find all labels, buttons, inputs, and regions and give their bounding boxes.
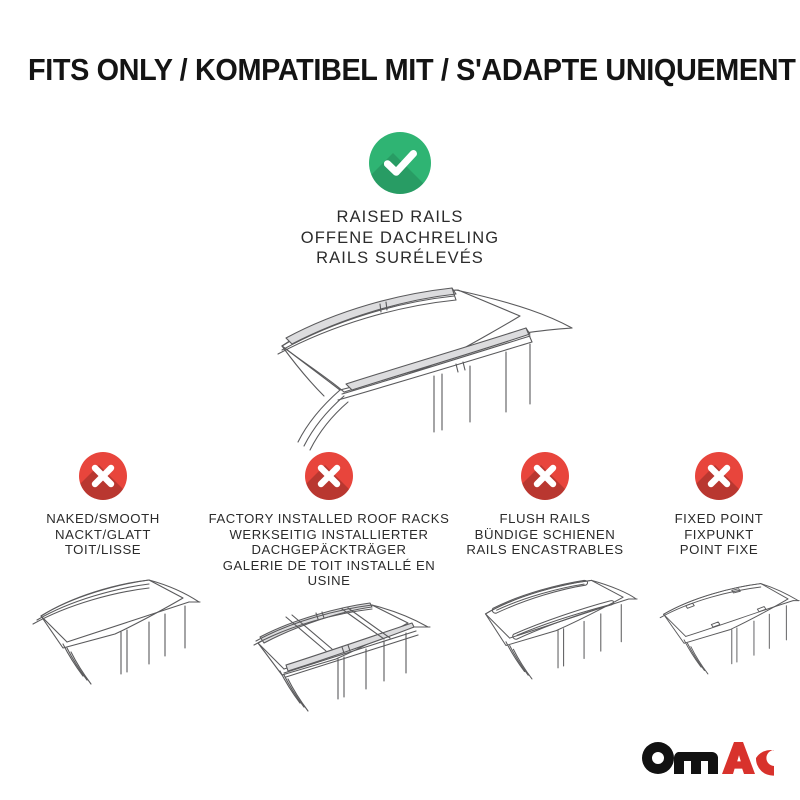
incompatible-item-fixed-point: FIXED POINT FIXPUNKT POINT FIXE [638, 452, 800, 724]
logo-letter-m [674, 752, 718, 774]
caption-line-de: BÜNDIGE SCHIENEN [452, 527, 638, 543]
logo-letter-o [642, 742, 674, 774]
caption-line-de-2: DACHGEPÄCKTRÄGER [206, 542, 452, 558]
car-roof-fixed-point-illustration [638, 564, 800, 724]
car-roof-factory-roof-racks-illustration [206, 595, 452, 755]
x-circle-icon [695, 452, 743, 500]
caption-line-en: NAKED/SMOOTH [0, 511, 206, 527]
x-circle-icon [79, 452, 127, 500]
caption-line-fr: TOIT/LISSE [0, 542, 206, 558]
caption-line-fr: GALERIE DE TOIT INSTALLÉ EN USINE [206, 558, 452, 589]
car-roof-flush-rails-illustration [452, 564, 638, 724]
caption-line-de: FIXPUNKT [638, 527, 800, 543]
approved-caption-line-de: OFFENE DACHRELING [0, 228, 800, 249]
incompatible-caption: FIXED POINT FIXPUNKT POINT FIXE [638, 511, 800, 558]
caption-line-de: NACKT/GLATT [0, 527, 206, 543]
incompatible-caption: NAKED/SMOOTH NACKT/GLATT TOIT/LISSE [0, 511, 206, 558]
x-circle-icon [521, 452, 569, 500]
incompatible-item-naked-smooth: NAKED/SMOOTH NACKT/GLATT TOIT/LISSE [0, 452, 206, 724]
caption-line-de-1: WERKSEITIG INSTALLIERTER [206, 527, 452, 543]
check-circle-icon [369, 132, 431, 194]
omac-logo [638, 738, 774, 778]
incompatible-caption: FLUSH RAILS BÜNDIGE SCHIENEN RAILS ENCAS… [452, 511, 638, 558]
approved-section: RAISED RAILS OFFENE DACHRELING RAILS SUR… [0, 132, 800, 269]
incompatible-item-flush-rails: FLUSH RAILS BÜNDIGE SCHIENEN RAILS ENCAS… [452, 452, 638, 724]
approved-caption: RAISED RAILS OFFENE DACHRELING RAILS SUR… [0, 207, 800, 269]
incompatible-item-factory-roof-racks: FACTORY INSTALLED ROOF RACKS WERKSEITIG … [206, 452, 452, 755]
car-roof-with-raised-rails-illustration [0, 272, 800, 457]
car-roof-naked-smooth-illustration [0, 564, 206, 724]
caption-line-fr: POINT FIXE [638, 542, 800, 558]
incompatible-caption: FACTORY INSTALLED ROOF RACKS WERKSEITIG … [206, 511, 452, 589]
caption-line-en: FIXED POINT [638, 511, 800, 527]
caption-line-en: FLUSH RAILS [452, 511, 638, 527]
incompatible-types-row: NAKED/SMOOTH NACKT/GLATT TOIT/LISSE [0, 452, 800, 755]
caption-line-en: FACTORY INSTALLED ROOF RACKS [206, 511, 452, 527]
caption-line-fr: RAILS ENCASTRABLES [452, 542, 638, 558]
page-title: FITS ONLY / KOMPATIBEL MIT / S'ADAPTE UN… [28, 53, 772, 87]
logo-letter-a [722, 742, 755, 774]
approved-caption-line-en: RAISED RAILS [0, 207, 800, 228]
approved-caption-line-fr: RAILS SURÉLEVÉS [0, 248, 800, 269]
logo-letter-c [756, 750, 774, 776]
x-circle-icon [305, 452, 353, 500]
